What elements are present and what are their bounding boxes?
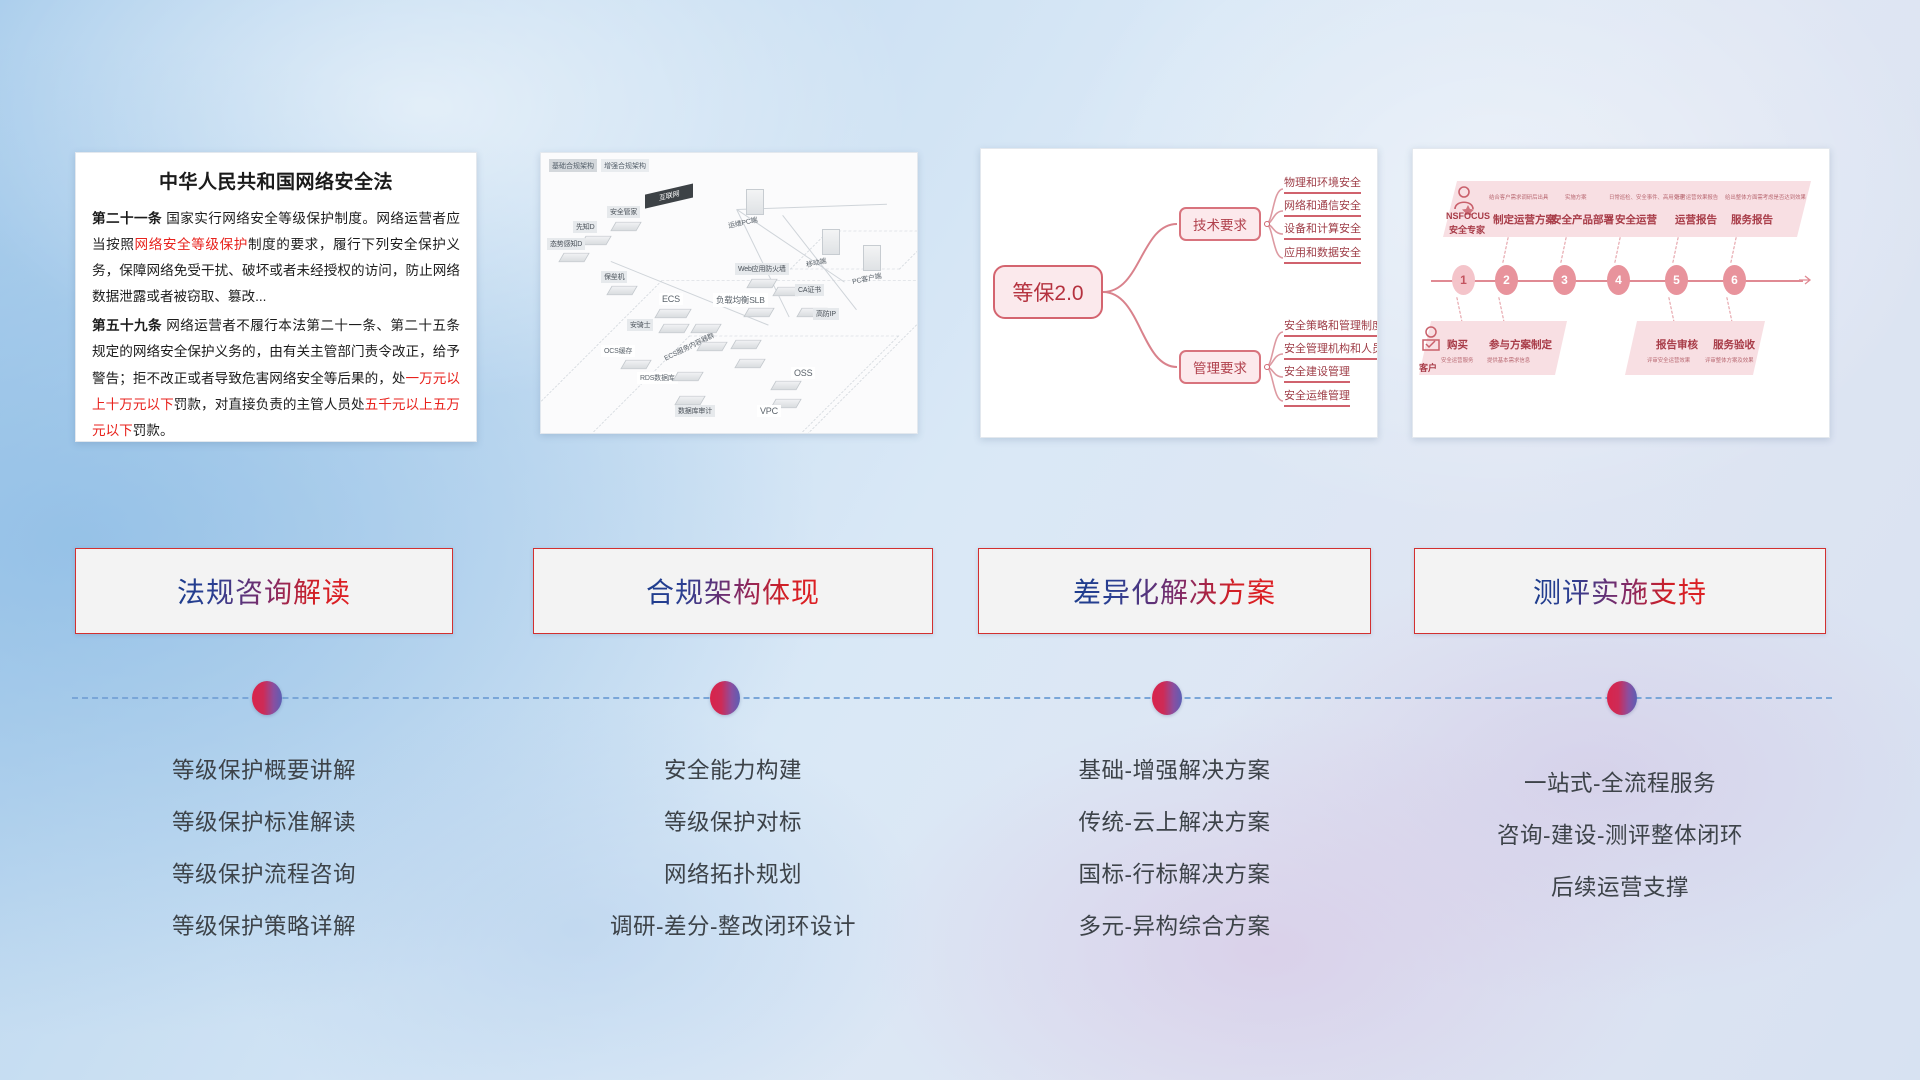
node-antiddos-label: 高防IP	[813, 308, 839, 320]
top-step-3-sub: 日常巡检、安全事件、高用处理	[1609, 193, 1684, 201]
node-vpc-label: VPC	[757, 405, 781, 417]
node-waf-label: Web应用防火墙	[735, 263, 789, 275]
expert-role: 安全专家	[1449, 223, 1485, 236]
banner-assessment-support[interactable]: 测评实施支持	[1414, 548, 1826, 634]
law-title: 中华人民共和国网络安全法	[92, 167, 460, 194]
node-container-4	[734, 359, 765, 368]
top-step-4-main: 运营报告	[1675, 212, 1717, 227]
node-slb-icon	[743, 308, 774, 317]
timeline-node-5[interactable]: 5	[1665, 265, 1688, 295]
node-db-audit-icon	[674, 396, 705, 405]
law-body: 中华人民共和国网络安全法 第二十一条 国家实行网络安全等级保护制度。网络运营者应…	[76, 153, 476, 442]
node-anti-knight-icon	[658, 324, 689, 333]
list-column-1: 等级保护概要讲解 等级保护标准解读 等级保护流程咨询 等级保护策略详解	[75, 745, 453, 953]
bottom-step-2-sub: 提供基本需求信息	[1487, 356, 1530, 364]
top-banner	[1443, 181, 1811, 237]
article-59-text-b: 罚款，对直接负责的主管人员处	[174, 397, 365, 412]
list-item: 等级保护对标	[533, 797, 933, 849]
mindmap-root: 等保2.0	[993, 265, 1103, 319]
node-rds-label: RDS数据库	[637, 372, 678, 384]
node-situation-label: 态势感知D	[547, 238, 585, 250]
card-mindmap-dengbao: 等保2.0 技术要求 物理和环境安全 网络和通信安全 设备和计算安全 应用和数据…	[980, 148, 1378, 438]
expert-name: NSFOCUS	[1446, 211, 1490, 221]
node-slb-label: 负载均衡SLB	[713, 293, 768, 307]
list-column-4: 一站式-全流程服务 咨询-建设-测评整体闭环 后续运营支撑	[1414, 758, 1826, 914]
node-mobile-icon	[822, 229, 840, 255]
mindmap-leaf-t1: 物理和环境安全	[1284, 176, 1361, 194]
bottom-step-1-main: 购买	[1447, 337, 1468, 352]
list-item: 等级保护概要讲解	[75, 745, 453, 797]
list-item: 一站式-全流程服务	[1414, 758, 1826, 810]
node-ops-terminal-icon	[746, 189, 764, 215]
node-container-1	[690, 324, 721, 333]
list-item: 等级保护流程咨询	[75, 849, 453, 901]
tick-5	[1672, 237, 1678, 263]
mindmap-leaf-m2: 安全管理机构和人员	[1284, 342, 1378, 360]
bottom-step-3-main: 报告审核	[1656, 337, 1698, 352]
architecture-tabs: 基础合规架构 增强合规架构	[549, 159, 649, 172]
timeline-dot-2[interactable]	[710, 681, 740, 715]
timeline-node-4[interactable]: 4	[1607, 265, 1630, 295]
mindmap-leaf-m4: 安全运维管理	[1284, 389, 1350, 407]
tick-5-down	[1668, 297, 1674, 323]
mindmap-dot-technical	[1264, 221, 1270, 227]
mindmap-leaf-m3: 安全建设管理	[1284, 365, 1350, 383]
customer-role: 客户	[1419, 361, 1437, 374]
banner-label-2: 合规架构体现	[646, 571, 820, 611]
tick-6	[1730, 237, 1736, 263]
node-bastion-label: 保垒机	[601, 271, 627, 283]
card-compliance-architecture: 基础合规架构 增强合规架构 互联网 安全管家 先知D 态势感知D 运维PC端	[540, 152, 918, 434]
tick-2-down	[1498, 297, 1504, 323]
timeline-node-1[interactable]: 1	[1452, 265, 1475, 295]
node-internet-label: 互联网	[645, 183, 693, 208]
bottom-step-4-main: 服务验收	[1713, 337, 1755, 352]
node-ecs-label: ECS	[659, 293, 683, 305]
banner-label-3: 差异化解决方案	[1073, 571, 1276, 611]
node-pc-icon	[863, 245, 881, 271]
node-xianzhi-label: 先知D	[573, 221, 597, 233]
node-security-butler-label: 安全管家	[607, 206, 640, 218]
node-ocs-label: OCS缓存	[601, 345, 635, 357]
timeline-node-6[interactable]: 6	[1723, 265, 1746, 295]
tick-6-down	[1726, 297, 1732, 323]
list-item: 多元-异构综合方案	[978, 901, 1371, 953]
tab-basic-architecture[interactable]: 基础合规架构	[549, 159, 597, 172]
list-item: 调研-差分-整改闭环设计	[533, 901, 933, 953]
banner-label-4: 测评实施支持	[1533, 571, 1707, 611]
top-step-2-sub: 实施方案	[1565, 193, 1587, 201]
top-step-1-sub: 结合客户需求调研后出具	[1489, 193, 1548, 201]
mindmap: 等保2.0 技术要求 物理和环境安全 网络和通信安全 设备和计算安全 应用和数据…	[981, 149, 1377, 437]
node-oss-icon	[770, 381, 801, 390]
list-item: 基础-增强解决方案	[978, 745, 1371, 797]
axis-arrow-icon	[1799, 274, 1813, 286]
node-container-2	[696, 342, 727, 351]
law-article-59: 第五十九条 网络运营者不履行本法第二十一条、第二十五条规定的网络安全保护义务的，…	[92, 313, 460, 442]
list-item: 后续运营支撑	[1414, 862, 1826, 914]
node-ops-terminal-label: 运维PC端	[724, 213, 761, 232]
customer-icon	[1420, 325, 1442, 357]
banner-label-1: 法规咨询解读	[177, 571, 351, 611]
law-article-21: 第二十一条 国家实行网络安全等级保护制度。网络运营者应当按照网络安全等级保护制度…	[92, 206, 460, 310]
timeline-dot-1[interactable]	[252, 681, 282, 715]
mindmap-dot-management	[1264, 364, 1270, 370]
top-step-5-sub: 给出整体方面需考虑是否达到效果	[1725, 193, 1806, 201]
node-ocs-icon	[620, 360, 651, 369]
mindmap-branch-technical: 技术要求	[1179, 207, 1261, 241]
list-item: 咨询-建设-测评整体闭环	[1414, 810, 1826, 862]
mindmap-leaf-t3: 设备和计算安全	[1284, 222, 1361, 240]
node-db-audit-label: 数据库审计	[675, 405, 715, 417]
mindmap-branch-management: 管理要求	[1179, 350, 1261, 384]
list-column-2: 安全能力构建 等级保护对标 网络拓扑规划 调研-差分-整改闭环设计	[533, 745, 933, 953]
timeline-node-2[interactable]: 2	[1495, 265, 1518, 295]
nsfocus-flow: NSFOCUS 安全专家 结合客户需求调研后出具 制定运营方案 实施方案 安全产…	[1413, 149, 1829, 437]
node-ca-label: CA证书	[795, 284, 824, 296]
mindmap-leaf-m1: 安全策略和管理制度	[1284, 319, 1378, 337]
banner-differentiated-solution[interactable]: 差异化解决方案	[978, 548, 1371, 634]
list-item: 国标-行标解决方案	[978, 849, 1371, 901]
timeline-dot-3[interactable]	[1152, 681, 1182, 715]
bottom-step-4-sub: 评审整体方案及效果	[1705, 356, 1754, 364]
timeline-dashed-line	[72, 697, 1832, 699]
bottom-step-2-main: 参与方案制定	[1489, 337, 1552, 352]
node-anti-knight-label: 安骑士	[627, 319, 653, 331]
tab-enhanced-architecture[interactable]: 增强合规架构	[601, 159, 649, 172]
list-column-3: 基础-增强解决方案 传统-云上解决方案 国标-行标解决方案 多元-异构综合方案	[978, 745, 1371, 953]
list-item: 安全能力构建	[533, 745, 933, 797]
node-ecs-icon	[654, 309, 691, 318]
banner-regulation-consulting[interactable]: 法规咨询解读	[75, 548, 453, 634]
node-situation-icon	[558, 253, 589, 262]
list-item: 等级保护策略详解	[75, 901, 453, 953]
top-step-2-main: 安全产品部署	[1551, 212, 1614, 227]
node-bastion-icon	[606, 286, 637, 295]
article-21-highlight: 网络安全等级保护	[135, 237, 248, 252]
list-item: 等级保护标准解读	[75, 797, 453, 849]
node-container-3	[730, 340, 761, 349]
list-item: 网络拓扑规划	[533, 849, 933, 901]
banner-compliance-architecture[interactable]: 合规架构体现	[533, 548, 933, 634]
card-nsfocus-timeline: NSFOCUS 安全专家 结合客户需求调研后出具 制定运营方案 实施方案 安全产…	[1412, 148, 1830, 438]
tick-1-down	[1456, 297, 1462, 323]
article-21-label: 第二十一条	[92, 211, 162, 226]
article-59-text-c: 罚款。	[133, 423, 174, 438]
list-item: 传统-云上解决方案	[978, 797, 1371, 849]
architecture-diagram: 基础合规架构 增强合规架构 互联网 安全管家 先知D 态势感知D 运维PC端	[541, 153, 917, 433]
node-security-butler-icon	[610, 222, 641, 231]
top-step-1-main: 制定运营方案	[1493, 212, 1556, 227]
card-cybersecurity-law: 中华人民共和国网络安全法 第二十一条 国家实行网络安全等级保护制度。网络运营者应…	[75, 152, 477, 442]
mindmap-leaf-t4: 应用和数据安全	[1284, 246, 1361, 264]
tick-4	[1614, 237, 1620, 263]
node-rds-icon	[672, 372, 703, 381]
timeline-node-3[interactable]: 3	[1553, 265, 1576, 295]
top-step-5-main: 服务报告	[1731, 212, 1773, 227]
tick-2	[1502, 237, 1508, 263]
tick-3	[1560, 237, 1566, 263]
bottom-step-3-sub: 评审安全运营效果	[1647, 356, 1690, 364]
node-waf-icon	[746, 279, 777, 288]
timeline-dot-4[interactable]	[1607, 681, 1637, 715]
mindmap-leaf-t2: 网络和通信安全	[1284, 199, 1361, 217]
article-59-label: 第五十九条	[92, 318, 162, 333]
top-step-4-sub: 针对运营效果报告	[1675, 193, 1718, 201]
bottom-step-1-sub: 安全运营服务	[1441, 356, 1473, 364]
top-step-3-main: 安全运营	[1615, 212, 1657, 227]
node-oss-label: OSS	[791, 367, 815, 379]
